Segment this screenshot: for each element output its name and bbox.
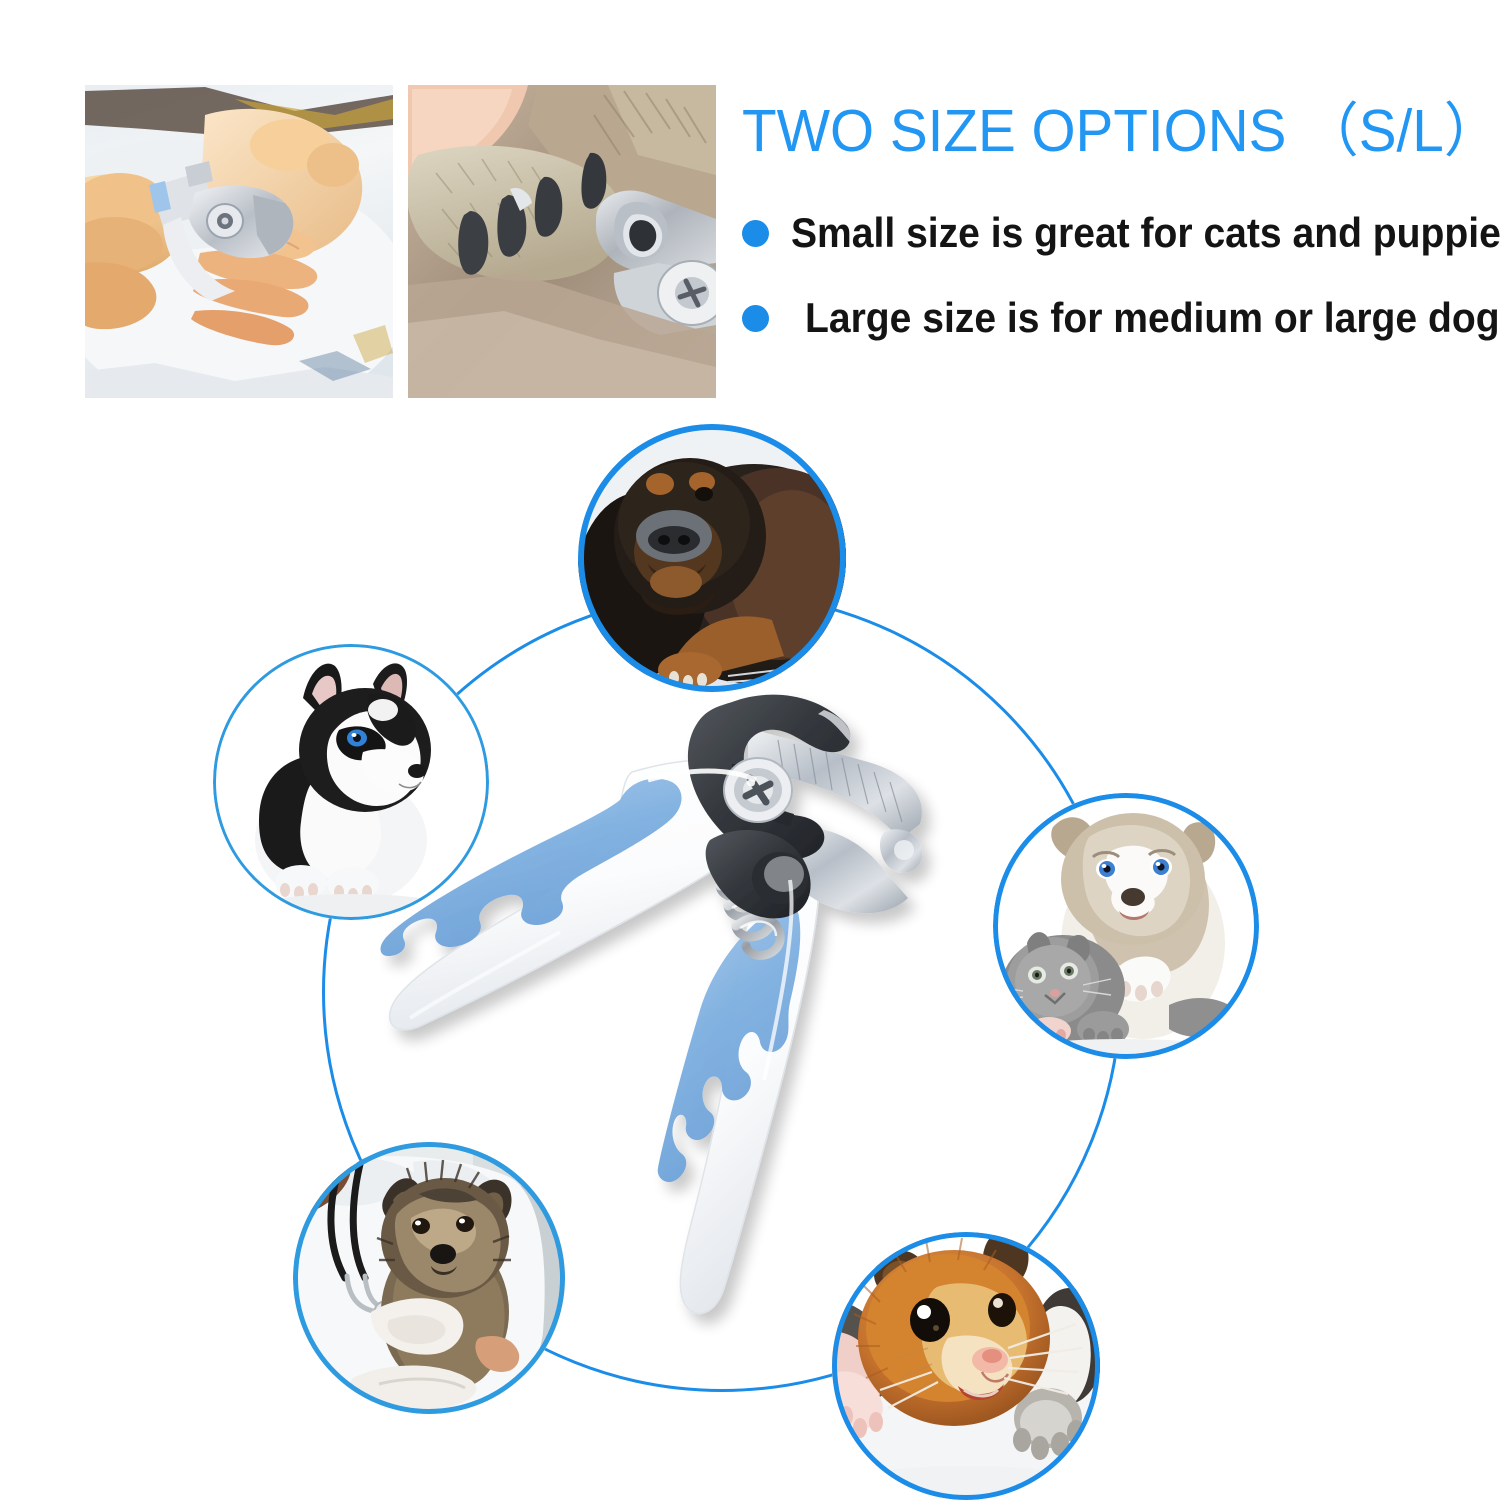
circle-hamster-alt: Golden hamster with small pet paws bbox=[0, 0, 1, 1]
cat-claw-trimming-art bbox=[85, 85, 393, 398]
bullet-item-small-size: Small size is great for cats and puppies… bbox=[742, 205, 1500, 261]
circle-puppy-kitten bbox=[993, 793, 1259, 1059]
dog-paw-trimming-photo bbox=[408, 85, 716, 398]
pet-nail-clipper bbox=[380, 680, 980, 1360]
circle-vet-yorkie-alt: Veterinarian in white coat holding a yor… bbox=[0, 0, 1, 1]
bullet-dot-icon bbox=[742, 220, 769, 247]
pivot-screw bbox=[724, 758, 792, 822]
husky-puppy-and-kitten-art bbox=[993, 793, 1259, 1059]
dog-paw-trimming-art bbox=[408, 85, 716, 398]
circle-mastiff bbox=[578, 424, 846, 692]
photo-cat-alt: Hands holding a white cat paw and trimmi… bbox=[0, 0, 1, 1]
bullet-label-small-size: Small size is great for cats and puppies… bbox=[791, 210, 1500, 256]
bullet-item-large-size: Large size is for medium or large dogs. bbox=[742, 290, 1500, 346]
photo-dog-alt: Close-up of a dog paw with dark nails be… bbox=[0, 0, 1, 1]
circle-husky-alt: Black and white husky puppy with blue ey… bbox=[0, 0, 1, 1]
bullet-label-large-size: Large size is for medium or large dogs. bbox=[805, 295, 1500, 341]
cat-claw-trimming-photo bbox=[85, 85, 393, 398]
page-title: TWO SIZE OPTIONS （S/L） bbox=[742, 96, 1462, 166]
product-alt: Pet nail clipper with white handles, lig… bbox=[0, 0, 1, 1]
circle-puppy-kitten-alt: Husky puppy hugging a grey kitten bbox=[0, 0, 1, 1]
circle-mastiff-alt: Tibetan mastiff lying down bbox=[0, 0, 1, 1]
infographic-canvas: TWO SIZE OPTIONS （S/L） Small size is gre… bbox=[0, 0, 1500, 1500]
pet-nail-clipper-art bbox=[380, 680, 980, 1360]
tibetan-mastiff-art bbox=[578, 424, 846, 692]
bullet-dot-icon bbox=[742, 305, 769, 332]
